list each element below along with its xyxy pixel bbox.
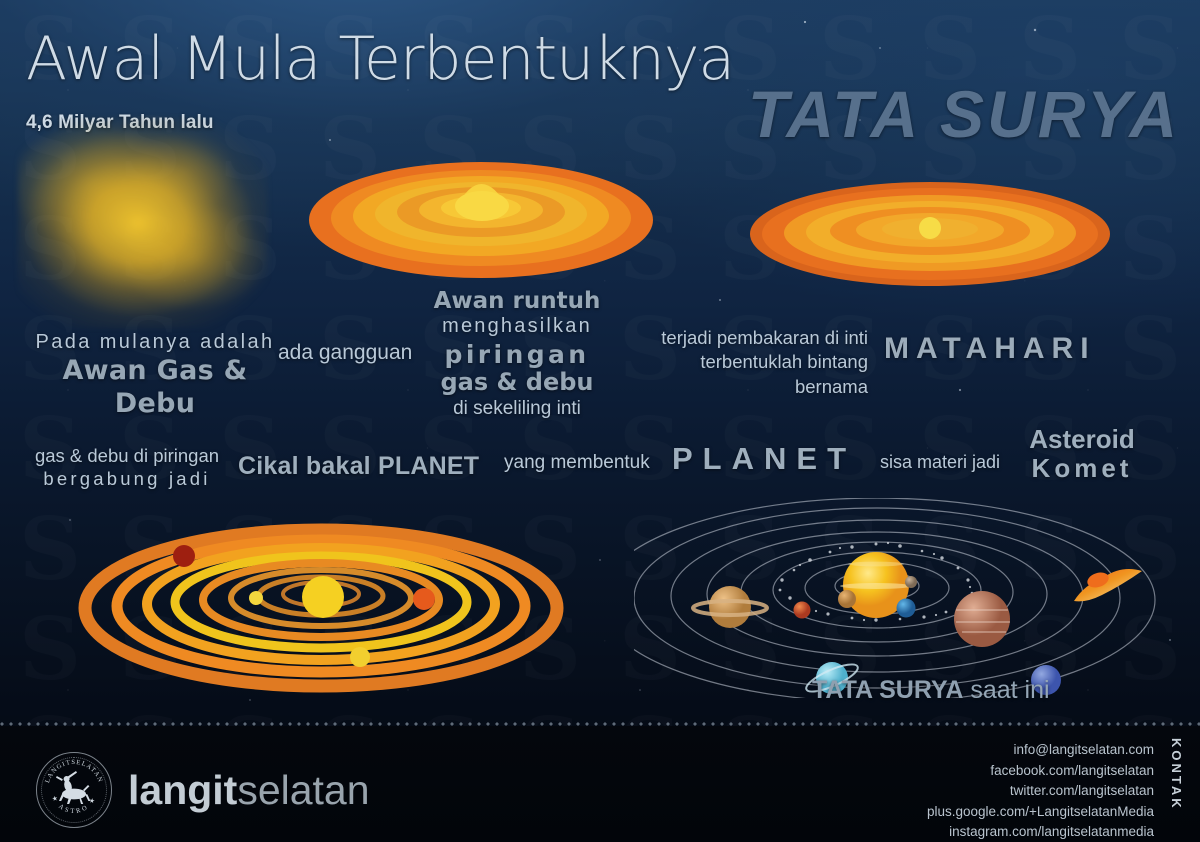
contact-twitter[interactable]: twitter.com/langitselatan [927, 781, 1154, 802]
mars [794, 602, 811, 619]
jupiter [954, 591, 1010, 647]
caption-accretion: gas & debu di piringan bergabung jadi [24, 444, 230, 490]
brand-selatan: selatan [237, 767, 369, 813]
caption-accretion-line2: bergabung jadi [24, 467, 230, 490]
planetesimal-2 [173, 545, 195, 567]
comet [1074, 569, 1142, 601]
present-solar-system-illustration [634, 498, 1200, 698]
kontak-vertical-label: KONTAK [1169, 738, 1184, 811]
collapsing-cloud-disk-illustration [306, 146, 656, 286]
caption-collapse-line1: Awan runtuh [424, 288, 610, 315]
label-matahari: MATAHARI [884, 332, 1096, 366]
contact-googleplus[interactable]: plus.google.com/+LangitselatanMedia [927, 802, 1154, 823]
footer-divider [0, 722, 1200, 726]
centaur-figure [56, 771, 90, 804]
caption-ignition-line2: terbentuklah bintang bernama [628, 350, 868, 399]
caption-forming: yang membentuk [504, 452, 650, 474]
protostar-core [302, 576, 344, 618]
saturn [693, 586, 767, 628]
infographic-poster: SSSSSSSSSSSSSSSSSSSSSSSSSSSSSSSSSSSSSSSS… [0, 0, 1200, 842]
venus [838, 590, 856, 608]
contact-facebook[interactable]: facebook.com/langitselatan [927, 761, 1154, 782]
svg-text:★ ASTRO ★: ★ ASTRO ★ [50, 794, 98, 815]
caption-gas-dust-line1: Pada mulanya adalah [30, 330, 280, 354]
label-asteroid-komet: Asteroid Komet [992, 425, 1172, 482]
caption-collapse-line3: piringan [424, 340, 610, 369]
contact-list: info@langitselatan.com facebook.com/lang… [927, 740, 1154, 842]
caption-collapse-line5: di sekeliling inti [424, 398, 610, 420]
caption-gas-dust-line2: Awan Gas & Debu [30, 355, 280, 421]
planetesimal-3 [413, 588, 435, 610]
earth [897, 599, 916, 618]
caption-collapse: Awan runtuh menghasilkan piringan gas & … [424, 288, 610, 420]
label-asteroid: Asteroid [992, 425, 1172, 454]
mercury [905, 576, 917, 588]
caption-leftover: sisa materi jadi [880, 452, 1000, 473]
big-heading-tata-surya: TATA SURYA [748, 76, 1180, 152]
caption-collapse-line4: gas & debu [424, 369, 610, 397]
brand-logo[interactable]: LANGITSELATAN ★ ASTRO ★ langitsela [36, 752, 370, 828]
caption-ignition-line1: terjadi pembakaran di inti [628, 326, 868, 350]
label-planet: PLANET [672, 441, 856, 477]
label-komet: Komet [992, 454, 1172, 483]
caption-accretion-line1: gas & debu di piringan [24, 444, 230, 467]
caption-protoplanet: Cikal bakal PLANET [238, 452, 479, 481]
svg-text:LANGITSELATAN: LANGITSELATAN [44, 759, 104, 784]
caption-ignition: terjadi pembakaran di inti terbentuklah … [628, 326, 868, 399]
caption-gas-dust-cloud: Pada mulanya adalah Awan Gas & Debu [30, 330, 280, 421]
planet-forming-disk-illustration [78, 512, 564, 696]
contact-email[interactable]: info@langitselatan.com [927, 740, 1154, 761]
caption-collapse-line2: menghasilkan [424, 315, 610, 338]
gas-dust-cloud-illustration [18, 118, 268, 328]
caption-today-bold: TATA SURYA [812, 676, 963, 704]
planetesimal-4 [350, 647, 370, 667]
caption-solar-system-today: TATA SURYA saat ini [812, 676, 1050, 705]
langitselatan-seal-icon: LANGITSELATAN ★ ASTRO ★ [36, 752, 112, 828]
brand-wordmark: langitselatan [128, 770, 370, 811]
planetesimal-1 [249, 591, 263, 605]
star-ignition-disk-illustration [748, 176, 1112, 292]
brand-langit: langit [128, 767, 237, 813]
page-title: Awal Mula Terbentuknya [26, 24, 734, 94]
caption-today-light: saat ini [970, 676, 1049, 704]
contact-instagram[interactable]: instagram.com/langitselatanmedia [927, 822, 1154, 842]
caption-disturbance: ada gangguan [278, 341, 412, 365]
